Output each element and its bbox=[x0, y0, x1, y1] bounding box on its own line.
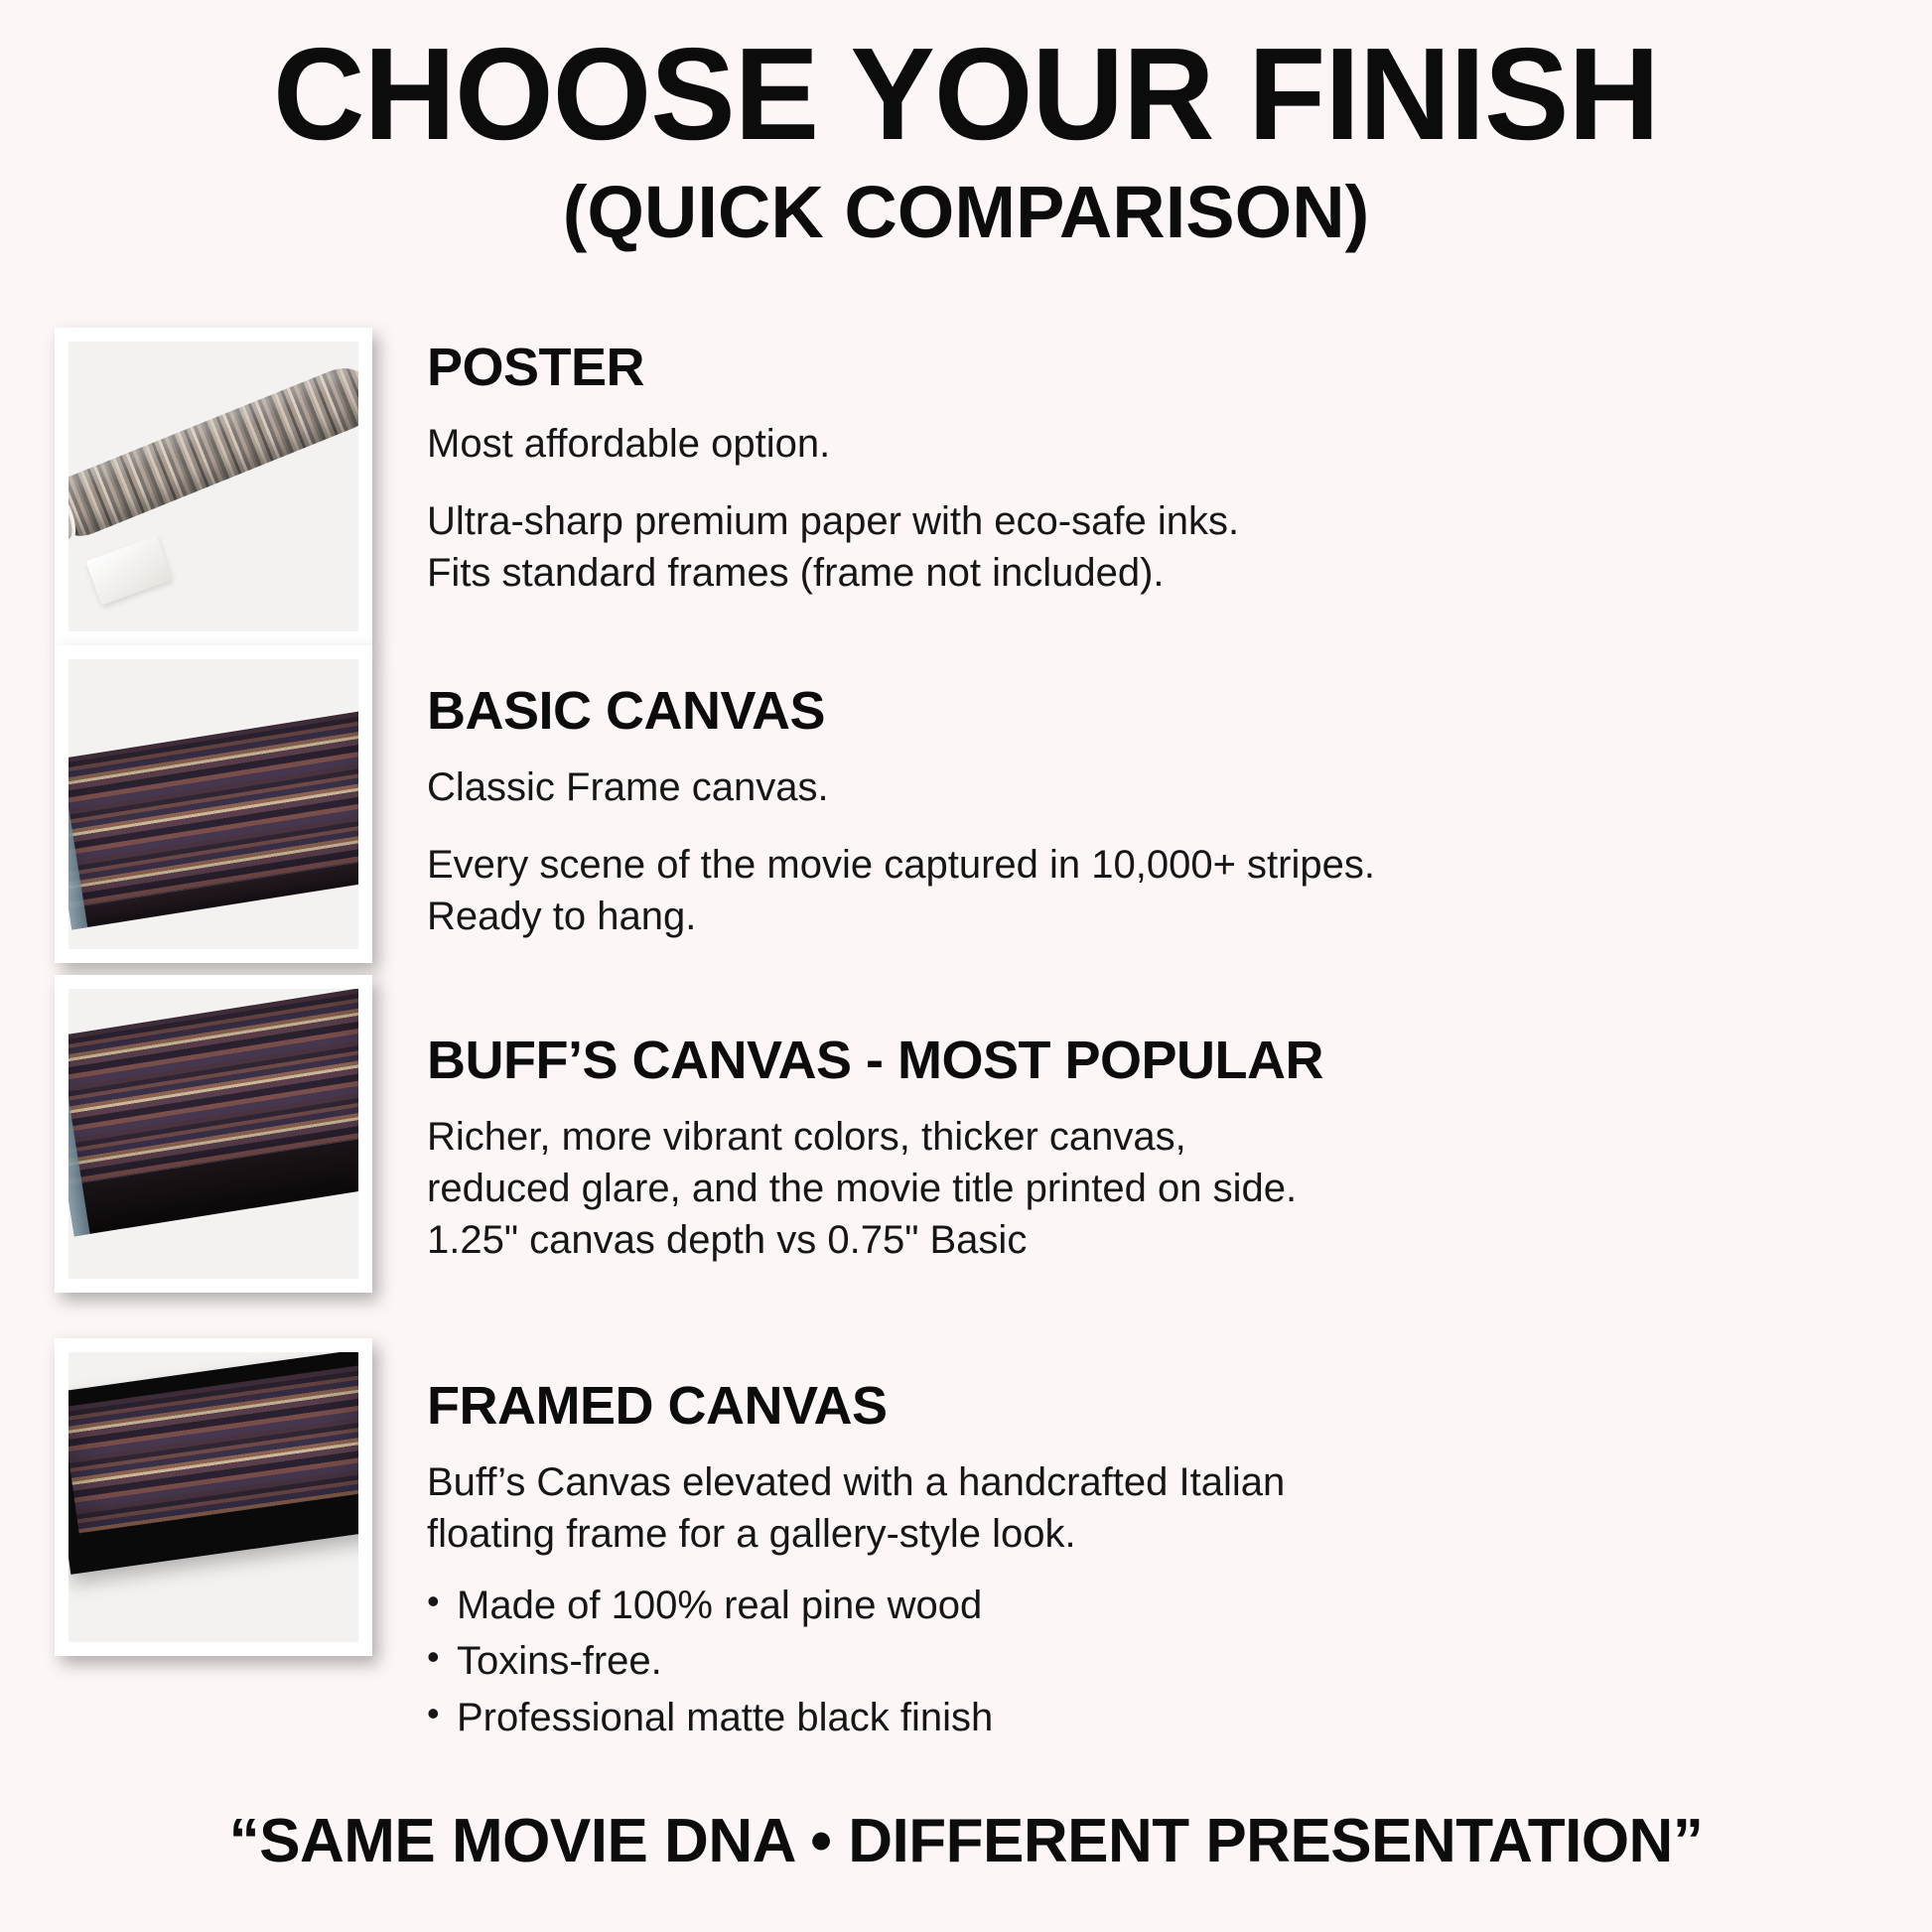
thumbnail-wrapper bbox=[0, 1338, 427, 1656]
header: CHOOSE YOUR FINISH (QUICK COMPARISON) bbox=[0, 0, 1932, 250]
option-detail-line-1: Every scene of the movie captured in 10,… bbox=[427, 839, 1876, 891]
page-subtitle: (QUICK COMPARISON) bbox=[0, 174, 1932, 251]
poster-roll-icon bbox=[69, 358, 358, 546]
poster-thumbnail[interactable] bbox=[55, 328, 372, 645]
option-detail-line-2: floating frame for a gallery-style look. bbox=[427, 1508, 1876, 1560]
option-text-buffs-canvas: BUFF’S CANVAS - MOST POPULAR Richer, mor… bbox=[427, 975, 1932, 1266]
option-detail-line-2: reduced glare, and the movie title print… bbox=[427, 1163, 1876, 1214]
option-lead: Classic Frame canvas. bbox=[427, 761, 1876, 813]
option-heading: BUFF’S CANVAS - MOST POPULAR bbox=[427, 1033, 1876, 1089]
feature-bullet-list: Made of 100% real pine wood Toxins-free.… bbox=[427, 1578, 1876, 1746]
option-detail-line-3: 1.25" canvas depth vs 0.75" Basic bbox=[427, 1214, 1876, 1266]
footer-tagline: “SAME MOVIE DNA • DIFFERENT PRESENTATION… bbox=[0, 1806, 1932, 1876]
option-detail-line-2: Fits standard frames (frame not included… bbox=[427, 547, 1876, 599]
canvas-striped-face bbox=[69, 1365, 358, 1533]
option-detail-line-2: Ready to hang. bbox=[427, 891, 1876, 942]
infographic-page: CHOOSE YOUR FINISH (QUICK COMPARISON) PO… bbox=[0, 0, 1932, 1932]
canvas-slab bbox=[69, 710, 358, 929]
option-detail-line-1: Buff’s Canvas elevated with a handcrafte… bbox=[427, 1456, 1876, 1508]
option-heading: FRAMED CANVAS bbox=[427, 1378, 1876, 1435]
buffs-canvas-thumbnail[interactable] bbox=[55, 975, 372, 1293]
thumbnail-wrapper bbox=[0, 975, 427, 1293]
option-heading: BASIC CANVAS bbox=[427, 683, 1876, 740]
option-row-poster: POSTER Most affordable option. Ultra-sha… bbox=[0, 328, 1932, 625]
option-row-basic-canvas: BASIC CANVAS Classic Frame canvas. Every… bbox=[0, 645, 1932, 963]
option-row-framed-canvas: FRAMED CANVAS Buff’s Canvas elevated wit… bbox=[0, 1338, 1932, 1666]
list-item: Professional matte black finish bbox=[427, 1690, 1876, 1746]
list-item: Made of 100% real pine wood bbox=[427, 1578, 1876, 1634]
black-floating-frame bbox=[69, 1352, 358, 1574]
buffs-canvas-photo bbox=[69, 989, 358, 1279]
canvas-slab-thick bbox=[69, 989, 358, 1237]
basic-canvas-photo bbox=[69, 659, 358, 949]
option-text-poster: POSTER Most affordable option. Ultra-sha… bbox=[427, 328, 1932, 599]
comparison-list: POSTER Most affordable option. Ultra-sha… bbox=[0, 328, 1932, 1666]
list-item: Toxins-free. bbox=[427, 1633, 1876, 1690]
framed-canvas-photo bbox=[69, 1352, 358, 1642]
rolled-poster-photo bbox=[69, 342, 358, 631]
option-row-buffs-canvas: BUFF’S CANVAS - MOST POPULAR Richer, mor… bbox=[0, 975, 1932, 1322]
page-title: CHOOSE YOUR FINISH bbox=[29, 28, 1903, 162]
option-text-basic-canvas: BASIC CANVAS Classic Frame canvas. Every… bbox=[427, 645, 1932, 942]
thumbnail-wrapper bbox=[0, 645, 427, 963]
basic-canvas-thumbnail[interactable] bbox=[55, 645, 372, 963]
option-detail-line-1: Richer, more vibrant colors, thicker can… bbox=[427, 1111, 1876, 1163]
framed-canvas-slab bbox=[69, 1352, 358, 1574]
thumbnail-wrapper bbox=[0, 328, 427, 645]
framed-canvas-thumbnail[interactable] bbox=[55, 1338, 372, 1656]
option-lead: Most affordable option. bbox=[427, 418, 1876, 470]
poster-paper-tail bbox=[86, 536, 173, 606]
option-detail-line-1: Ultra-sharp premium paper with eco-safe … bbox=[427, 495, 1876, 547]
option-text-framed-canvas: FRAMED CANVAS Buff’s Canvas elevated wit… bbox=[427, 1338, 1932, 1746]
option-heading: POSTER bbox=[427, 340, 1876, 396]
